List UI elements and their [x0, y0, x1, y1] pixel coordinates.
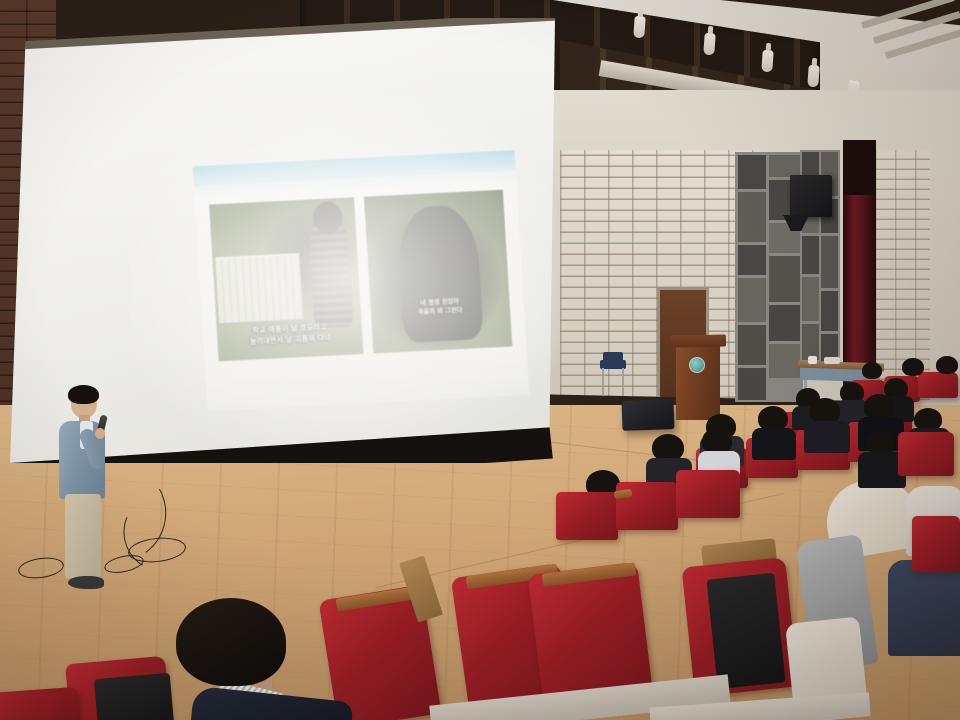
spotlight-icon	[761, 50, 774, 73]
stage-curtain-header	[843, 140, 876, 195]
table-papers-icon	[824, 357, 840, 364]
presenter	[55, 388, 117, 603]
blue-chair[interactable]	[600, 352, 626, 396]
slide-right-video-panel: 내 평생 친엄마 죽을까 봐 그런다	[364, 190, 512, 354]
podium[interactable]	[676, 335, 720, 420]
foreground-hair	[176, 598, 286, 686]
silhouette-figure	[395, 204, 483, 343]
auditorium-scene: 학교 애들이 날 호모라고 놀려대면서 날 괴롭혀 다녀 내 평생 친엄마 죽을…	[0, 0, 960, 720]
podium-emblem-icon	[689, 357, 705, 373]
presenter-shoe	[68, 576, 104, 589]
slide-left-video-panel: 학교 애들이 날 호모라고 놀려대면서 날 괴롭혀 다녀	[210, 197, 364, 361]
seat[interactable]	[556, 492, 618, 540]
seat[interactable]	[0, 687, 81, 720]
seat[interactable]	[898, 432, 954, 476]
spotlight-icon	[703, 33, 716, 56]
seat[interactable]	[676, 470, 740, 518]
projected-slide: 학교 애들이 날 호모라고 놀려대면서 날 괴롭혀 다녀 내 평생 친엄마 죽을…	[193, 150, 530, 411]
seat-back	[706, 573, 785, 690]
wall-speaker-icon	[790, 175, 832, 217]
spotlight-icon	[807, 65, 820, 88]
foreground-audience-member	[168, 598, 338, 720]
presenter-hand	[95, 428, 105, 439]
slide-right-subtitle: 내 평생 친엄마 죽을까 봐 그런다	[370, 294, 509, 319]
presenter-trousers	[65, 494, 101, 578]
slide-left-subtitle: 학교 애들이 날 호모라고 놀려대면서 날 괴롭혀 다녀	[217, 320, 363, 348]
podium-top	[670, 335, 726, 348]
picket-fence	[216, 254, 304, 324]
presenter-hair	[68, 385, 99, 404]
seat[interactable]	[918, 372, 958, 398]
floor-monitor-speaker	[621, 399, 674, 431]
seat-back	[94, 673, 174, 720]
seat[interactable]	[912, 516, 960, 572]
spotlight-icon	[633, 16, 646, 39]
table-cup-icon	[808, 356, 817, 364]
